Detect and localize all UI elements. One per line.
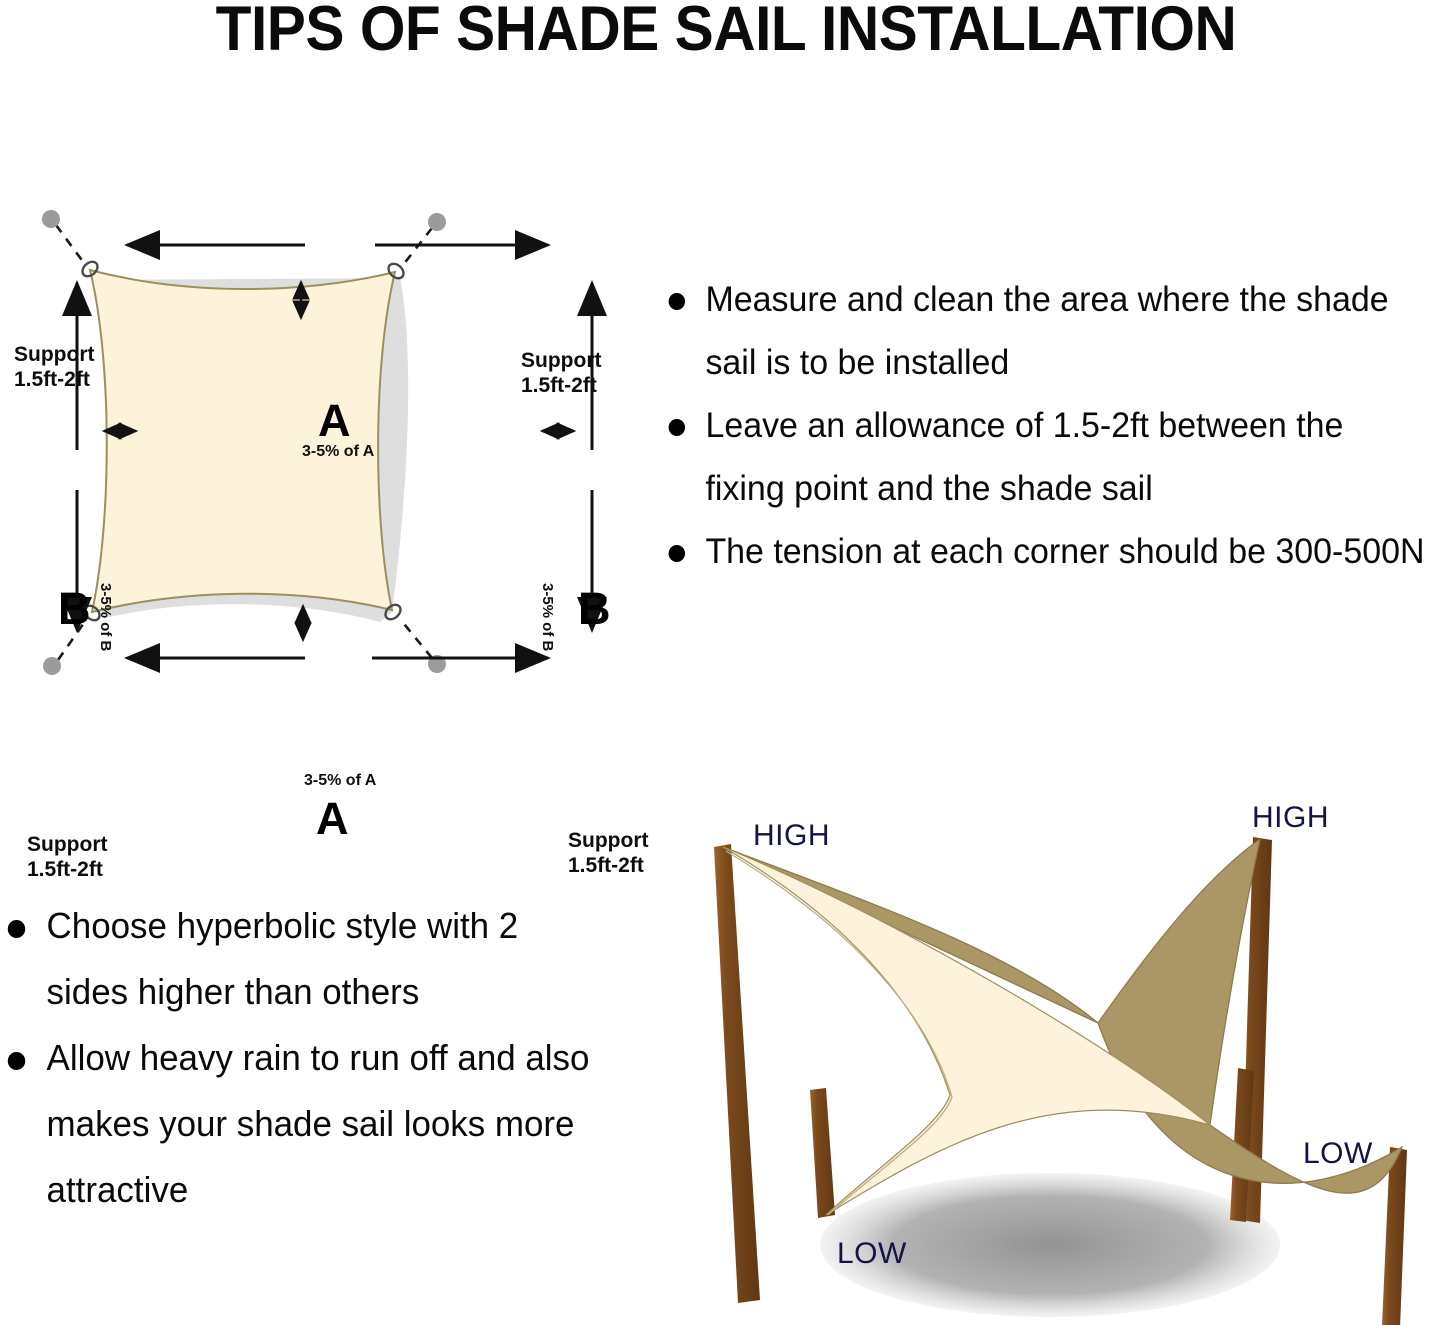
list-item-text: Choose hyperbolic style with 2 sides hig… xyxy=(47,905,519,1012)
hyperbolic-tips-block: Choose hyperbolic style with 2 sides hig… xyxy=(0,893,625,1223)
dimension-letter-b-right: B xyxy=(578,586,611,631)
dimension-letter-a-bottom: A xyxy=(316,796,349,841)
label-low-right: LOW xyxy=(1303,1138,1373,1170)
support-label-top-left: Support 1.5ft-2ft xyxy=(14,342,94,392)
label-high-left: HIGH xyxy=(753,820,830,852)
list-item: Leave an allowance of 1.5-2ft between th… xyxy=(655,394,1431,520)
support-label-line1: Support xyxy=(14,342,94,367)
rectangle-sail-diagram: Support 1.5ft-2ft Support 1.5ft-2ft Supp… xyxy=(0,160,660,735)
label-high-right: HIGH xyxy=(1252,802,1329,834)
allowance-label-left: 3-5% of B xyxy=(97,583,114,651)
list-item: Allow heavy rain to run off and also mak… xyxy=(0,1025,606,1223)
bullet-dot-icon xyxy=(669,545,685,562)
list-item-text: Allow heavy rain to run off and also mak… xyxy=(47,1037,590,1210)
support-label-line1: Support xyxy=(27,832,107,857)
support-label-line2: 1.5ft-2ft xyxy=(27,857,107,882)
bullet-dot-icon xyxy=(8,1052,25,1070)
list-item-text: Leave an allowance of 1.5-2ft between th… xyxy=(705,406,1343,508)
dimension-letter-a-top: A xyxy=(318,398,351,443)
support-label-line1: Support xyxy=(521,348,601,373)
hyperbolic-sail-svg xyxy=(690,795,1452,1325)
post-left-high xyxy=(714,844,760,1303)
post-left-low xyxy=(810,1088,835,1218)
installation-tips-list: Measure and clean the area where the sha… xyxy=(655,268,1452,583)
bullet-dot-icon xyxy=(669,419,685,436)
support-label-top-right: Support 1.5ft-2ft xyxy=(521,348,601,398)
support-label-line2: 1.5ft-2ft xyxy=(14,367,94,392)
list-item: Measure and clean the area where the sha… xyxy=(655,268,1431,394)
list-item: Choose hyperbolic style with 2 sides hig… xyxy=(0,893,606,1025)
list-item-text: The tension at each corner should be 300… xyxy=(705,532,1424,571)
hyperbolic-tips-list: Choose hyperbolic style with 2 sides hig… xyxy=(0,893,625,1223)
dimension-letter-b-left: B xyxy=(58,586,91,631)
label-low-left: LOW xyxy=(837,1238,907,1270)
support-label-line1: Support xyxy=(568,828,648,853)
support-label-bottom-left: Support 1.5ft-2ft xyxy=(27,832,107,882)
hyperbolic-sail-diagram: HIGH HIGH LOW LOW xyxy=(690,795,1452,1325)
page-title: TIPS OF SHADE SAIL INSTALLATION xyxy=(51,0,1401,62)
allowance-label-bottom: 3-5% of A xyxy=(304,772,376,790)
bullet-dot-icon xyxy=(669,293,685,310)
allowance-label-right: 3-5% of B xyxy=(539,583,556,651)
installation-tips-block: Measure and clean the area where the sha… xyxy=(655,268,1452,583)
list-item-text: Measure and clean the area where the sha… xyxy=(705,280,1388,382)
bullet-dot-icon xyxy=(8,920,25,938)
support-label-line2: 1.5ft-2ft xyxy=(568,853,648,878)
support-label-bottom-right: Support 1.5ft-2ft xyxy=(568,828,648,878)
allowance-label-top: 3-5% of A xyxy=(302,443,374,461)
list-item: The tension at each corner should be 300… xyxy=(655,520,1431,583)
support-label-line2: 1.5ft-2ft xyxy=(521,373,601,398)
